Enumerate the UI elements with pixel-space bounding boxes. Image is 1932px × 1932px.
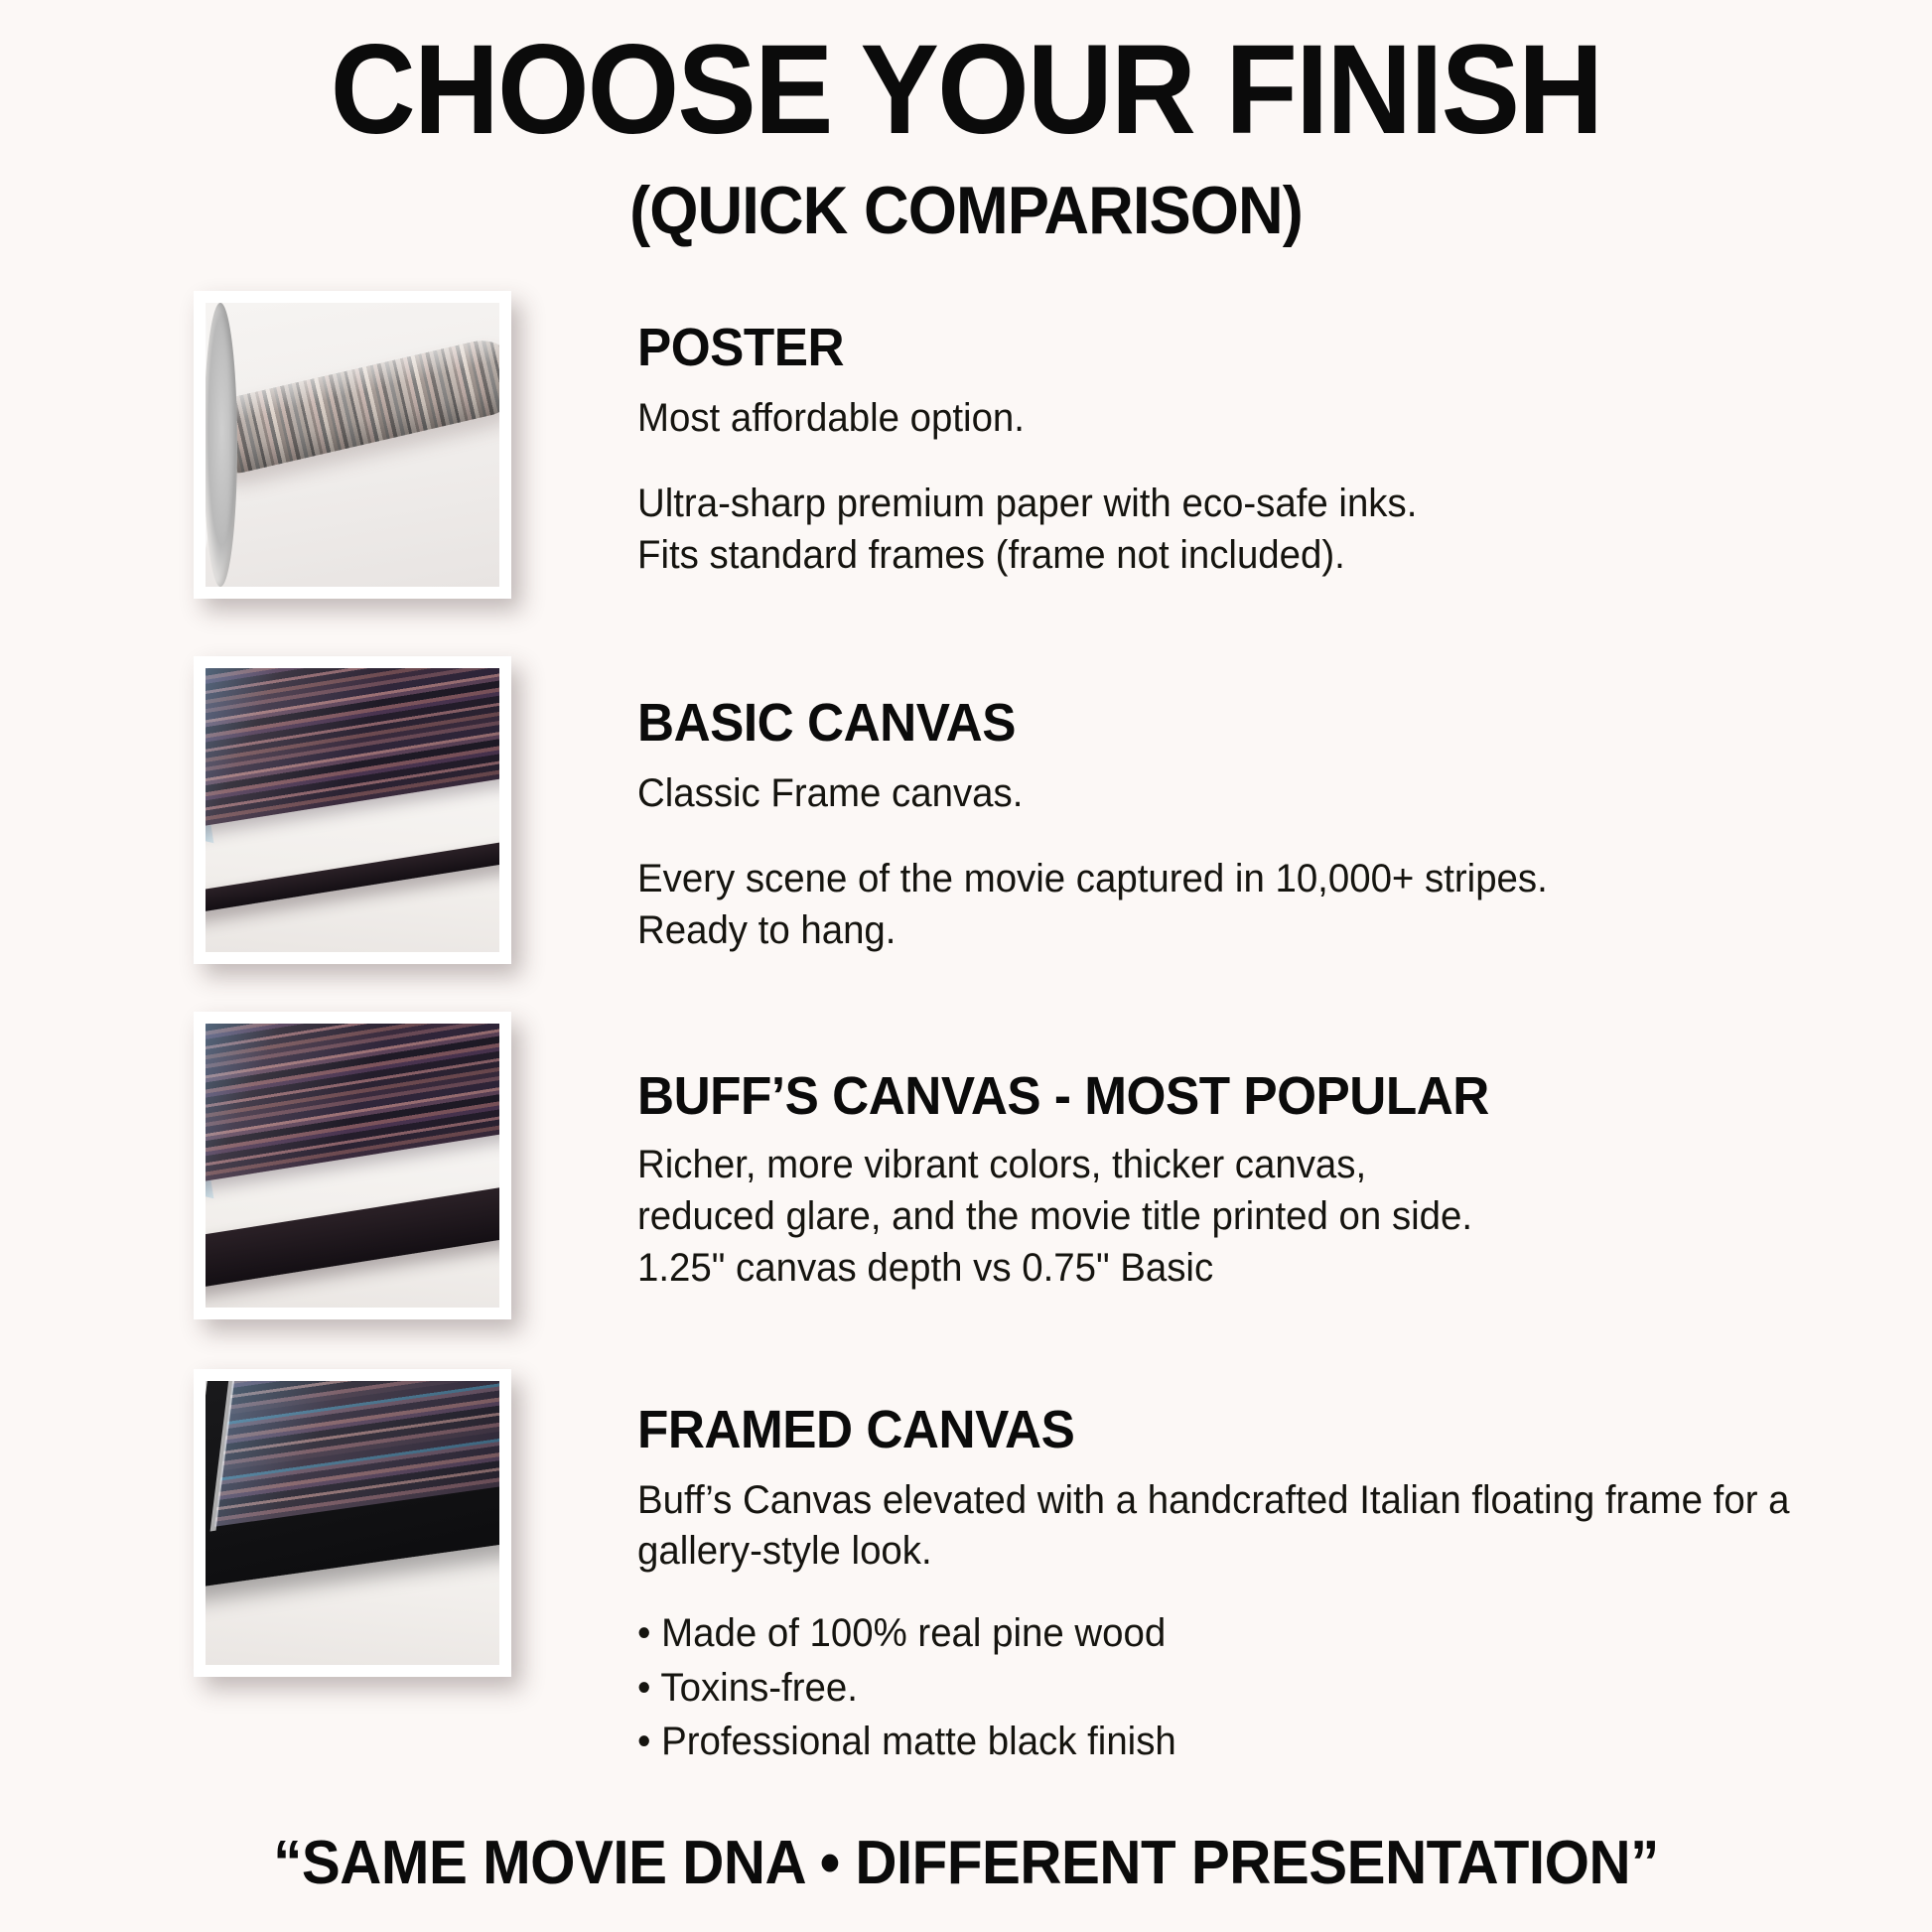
option-body-line: Ultra-sharp premium paper with eco-safe … <box>637 478 1417 529</box>
bullet-item: • Toxins-free. <box>637 1661 1880 1715</box>
page-subtitle: (QUICK COMPARISON) <box>68 172 1864 249</box>
framed-canvas-corner-photo <box>206 1381 499 1665</box>
option-lead: Classic Frame canvas. <box>637 768 1548 819</box>
buffs-canvas-thumbnail-wrap <box>194 1012 521 1319</box>
basic-canvas-text-column: BASIC CANVAS Classic Frame canvas. Every… <box>637 656 1586 957</box>
option-lead: Most affordable option. <box>637 393 1417 444</box>
option-body: Every scene of the movie captured in 10,… <box>637 853 1548 956</box>
finish-options-list: POSTER Most affordable option. Ultra-sha… <box>0 291 1932 1726</box>
header: CHOOSE YOUR FINISH (QUICK COMPARISON) <box>0 0 1932 249</box>
roll-open-end <box>206 303 237 587</box>
poster-image-card <box>194 291 511 599</box>
option-title: BUFF’S CANVAS - MOST POPULAR <box>637 1067 1489 1126</box>
option-title: BASIC CANVAS <box>637 694 1538 753</box>
option-body-line: 1.25" canvas depth vs 0.75" Basic <box>637 1242 1498 1294</box>
finish-option-row: POSTER Most affordable option. Ultra-sha… <box>0 291 1932 656</box>
bullet-item: • Made of 100% real pine wood <box>637 1606 1880 1660</box>
page-title: CHOOSE YOUR FINISH <box>68 26 1864 156</box>
footer-tagline: “SAME MOVIE DNA • DIFFERENT PRESENTATION… <box>58 1828 1873 1898</box>
buffs-canvas-corner-photo <box>206 1024 499 1308</box>
framed-canvas-bullets: • Made of 100% real pine wood • Toxins-f… <box>637 1606 1880 1768</box>
finish-option-row: BASIC CANVAS Classic Frame canvas. Every… <box>0 656 1932 1012</box>
option-lead-line: Buff’s Canvas elevated with a handcrafte… <box>637 1478 1461 1522</box>
framed-canvas-thumbnail-wrap <box>194 1369 521 1677</box>
basic-canvas-thumbnail-wrap <box>194 656 521 964</box>
option-title: POSTER <box>637 319 1409 377</box>
buffs-canvas-text-column: BUFF’S CANVAS - MOST POPULAR Richer, mor… <box>637 1012 1534 1295</box>
poster-thumbnail-wrap <box>194 291 521 599</box>
finish-option-row: BUFF’S CANVAS - MOST POPULAR Richer, mor… <box>0 1012 1932 1369</box>
finish-option-row: FRAMED CANVAS Buff’s Canvas elevated wit… <box>0 1369 1932 1726</box>
basic-canvas-corner-photo <box>206 668 499 952</box>
option-body: reduced glare, and the movie title print… <box>637 1190 1498 1294</box>
framed-canvas-image-card <box>194 1369 511 1677</box>
buffs-canvas-image-card <box>194 1012 511 1319</box>
rolled-poster-photo <box>206 303 499 587</box>
option-lead: Buff’s Canvas elevated with a handcrafte… <box>637 1475 1880 1577</box>
option-body: Ultra-sharp premium paper with eco-safe … <box>637 478 1417 581</box>
option-body-line: Ready to hang. <box>637 904 1548 956</box>
framed-canvas-text-column: FRAMED CANVAS Buff’s Canvas elevated wit… <box>637 1369 1932 1769</box>
bullet-item: • Professional matte black finish <box>637 1715 1880 1768</box>
canvas-gloss <box>214 1381 499 1527</box>
option-body-line: Fits standard frames (frame not included… <box>637 529 1417 581</box>
option-body-line: Every scene of the movie captured in 10,… <box>637 853 1548 904</box>
canvas-striped-face <box>214 1381 499 1527</box>
poster-text-column: POSTER Most affordable option. Ultra-sha… <box>637 291 1449 582</box>
option-lead: Richer, more vibrant colors, thicker can… <box>637 1140 1498 1190</box>
option-body-line: reduced glare, and the movie title print… <box>637 1190 1498 1242</box>
option-title: FRAMED CANVAS <box>637 1401 1867 1459</box>
basic-canvas-image-card <box>194 656 511 964</box>
